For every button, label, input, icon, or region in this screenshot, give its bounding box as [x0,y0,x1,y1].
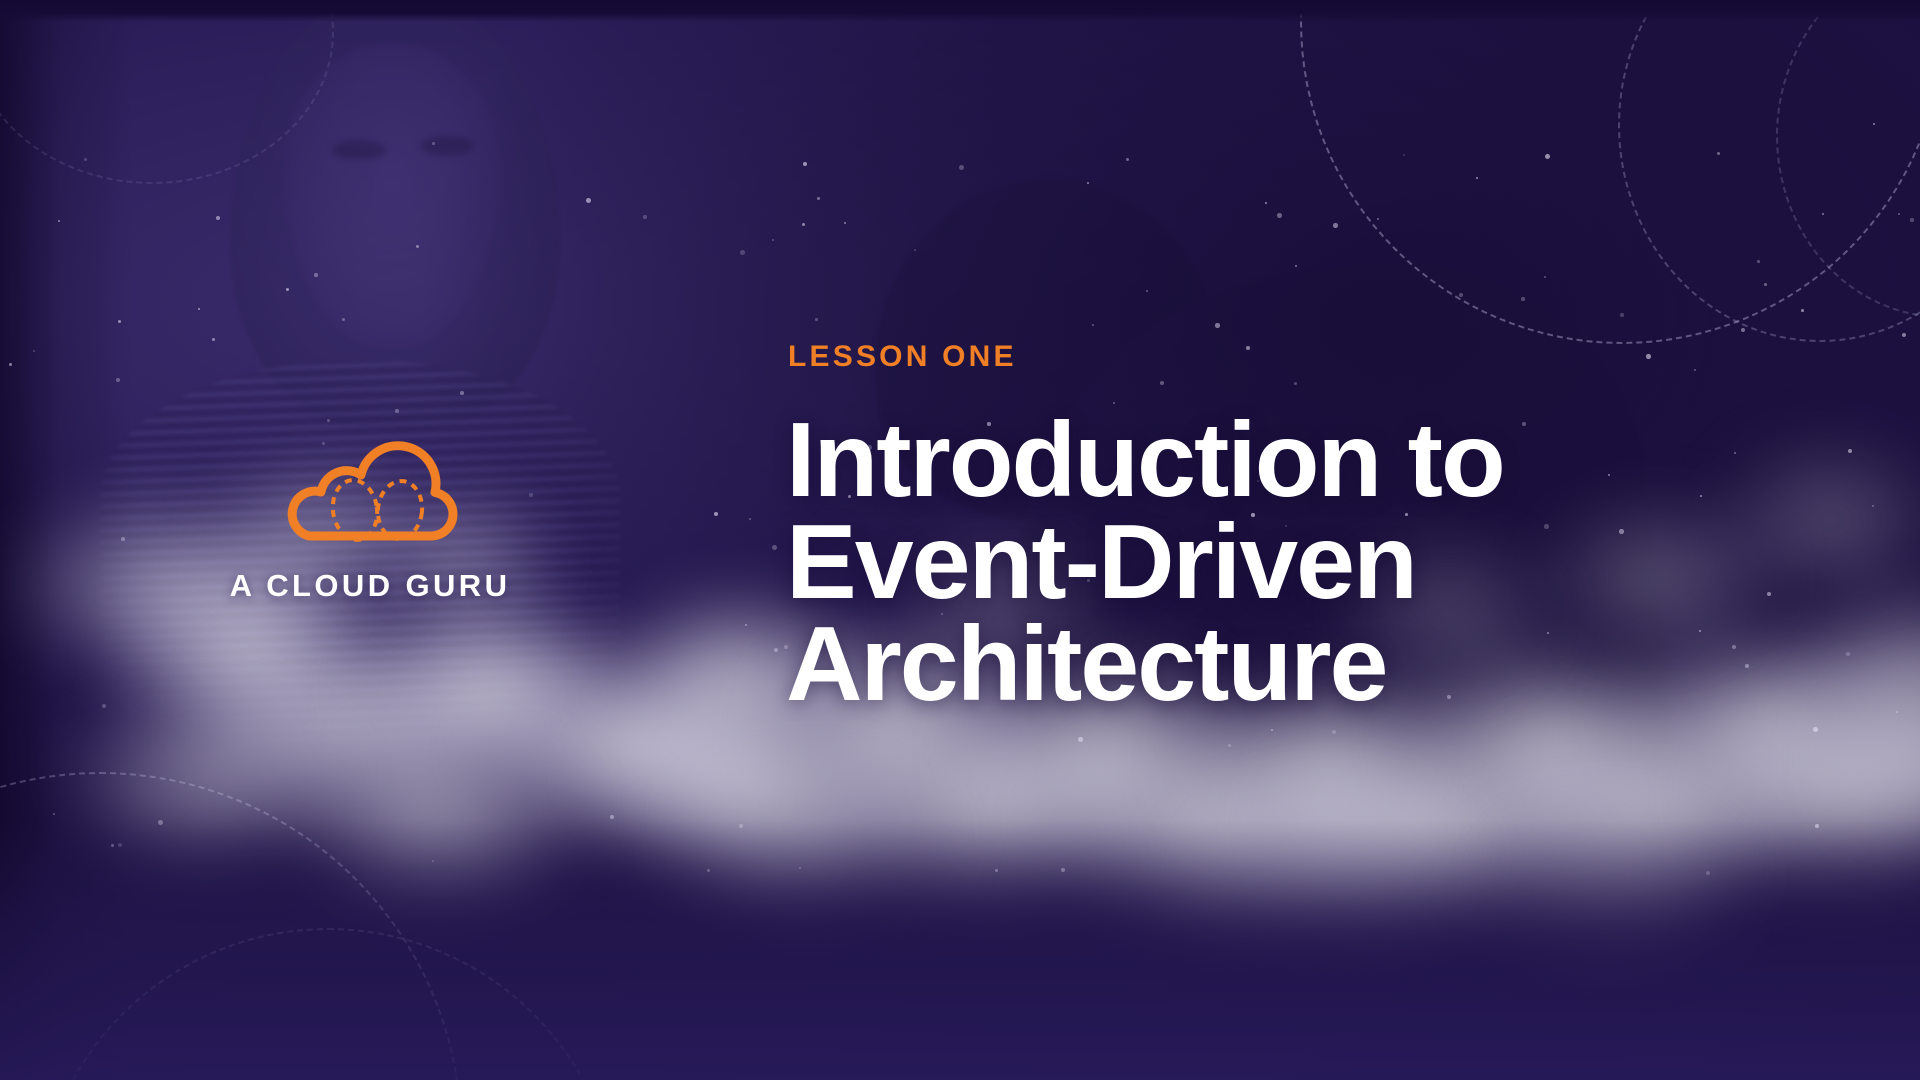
sparkle-dot [1459,293,1463,297]
sparkle-dot [1087,182,1089,184]
sparkle-dot [1265,202,1267,204]
sparkle-dot [803,162,807,166]
sparkle-dot [1700,495,1702,497]
sparkle-dot [1732,645,1736,649]
sparkle-dot [1146,290,1148,292]
sparkle-dot [1717,152,1720,155]
sparkle-dot [1521,297,1525,301]
sparkle-dot [1873,123,1875,125]
sparkle-dot [118,320,121,323]
sparkle-dot [914,249,916,251]
sparkle-dot [1271,729,1273,731]
sparkle-dot [1476,177,1478,179]
sparkle-dot [216,216,220,220]
sparkle-dot [749,518,751,520]
sparkle-dot [815,318,818,321]
sparkle-dot [1078,737,1083,742]
sparkle-dot [116,378,120,382]
sparkle-dot [327,419,330,422]
brand-name: A CLOUD GURU [190,568,550,604]
sparkle-dot [1228,744,1231,747]
sparkle-dot [959,165,964,170]
sparkle-dot [1333,223,1338,228]
lesson-eyebrow: LESSON ONE [788,340,1686,374]
sparkle-dot [102,704,106,708]
sparkle-dot [1910,218,1914,222]
sparkle-dot [33,350,35,352]
sparkle-dot [342,318,345,321]
sparkle-dot [84,158,87,161]
bottom-gradient [0,820,1920,1080]
top-edge-bar [0,0,1920,22]
sparkle-dot [121,537,125,541]
sparkle-dot [432,142,435,145]
sparkle-dot [1745,664,1749,668]
sparkle-dot [212,338,215,341]
sparkle-dot [1092,324,1094,326]
sparkle-dot [314,273,318,277]
sparkle-dot [714,512,718,516]
sparkle-dot [1801,309,1804,312]
sparkle-dot [844,222,846,224]
sparkle-dot [643,215,647,219]
sparkle-dot [772,545,777,550]
brand-logo: A CLOUD GURU [190,430,550,604]
sparkle-dot [1896,711,1898,713]
sparkle-dot [740,250,745,255]
sparkle-dot [1377,218,1379,220]
sparkle-dot [1764,283,1767,286]
sparkle-dot [1848,449,1852,453]
sparkle-dot [1902,333,1906,337]
sparkle-dot [1699,630,1701,632]
lesson-text-block: LESSON ONE Introduction to Event-Driven … [786,340,1686,715]
slide-canvas: A CLOUD GURU LESSON ONE Introduction to … [0,0,1920,1080]
title-line-1: Introduction to [786,410,1686,512]
title-line-2: Event-Driven [786,512,1686,614]
sparkle-dot [460,391,464,395]
sparkle-dot [286,288,289,291]
sparkle-dot [1215,323,1220,328]
sparkle-dot [745,624,747,626]
sparkle-dot [1403,154,1405,156]
sparkle-dot [1544,276,1546,278]
sparkle-dot [1767,592,1771,596]
sparkle-dot [774,648,778,652]
sparkle-dot [1898,213,1900,215]
sparkle-dot [198,308,200,310]
sparkle-dot [58,220,60,222]
page-title: Introduction to Event-Driven Architectur… [786,410,1686,715]
cloud-outline-icon [275,430,465,546]
sparkle-dot [416,245,419,248]
sparkle-dot [1295,265,1297,267]
sparkle-dot [1694,369,1696,371]
sparkle-dot [1741,328,1745,332]
sparkle-dot [1545,154,1550,159]
sparkle-dot [1277,213,1282,218]
sparkle-dot [1757,260,1760,263]
sparkle-dot [1734,452,1736,454]
sparkle-dot [395,409,399,413]
sparkle-dot [1126,158,1129,161]
sparkle-dot [772,239,774,241]
sparkle-dot [1332,730,1336,734]
sparkle-dot [586,198,591,203]
title-line-3: Architecture [786,614,1686,716]
sparkle-dot [1620,313,1624,317]
sparkle-dot [9,363,12,366]
sparkle-dot [610,815,614,819]
sparkle-dot [1846,652,1850,656]
sparkle-dot [1813,727,1818,732]
sparkle-dot [817,197,820,200]
sparkle-dot [802,223,805,226]
sparkle-dot [53,813,55,815]
sparkle-dot [1822,213,1824,215]
sparkle-dot [1872,505,1874,507]
